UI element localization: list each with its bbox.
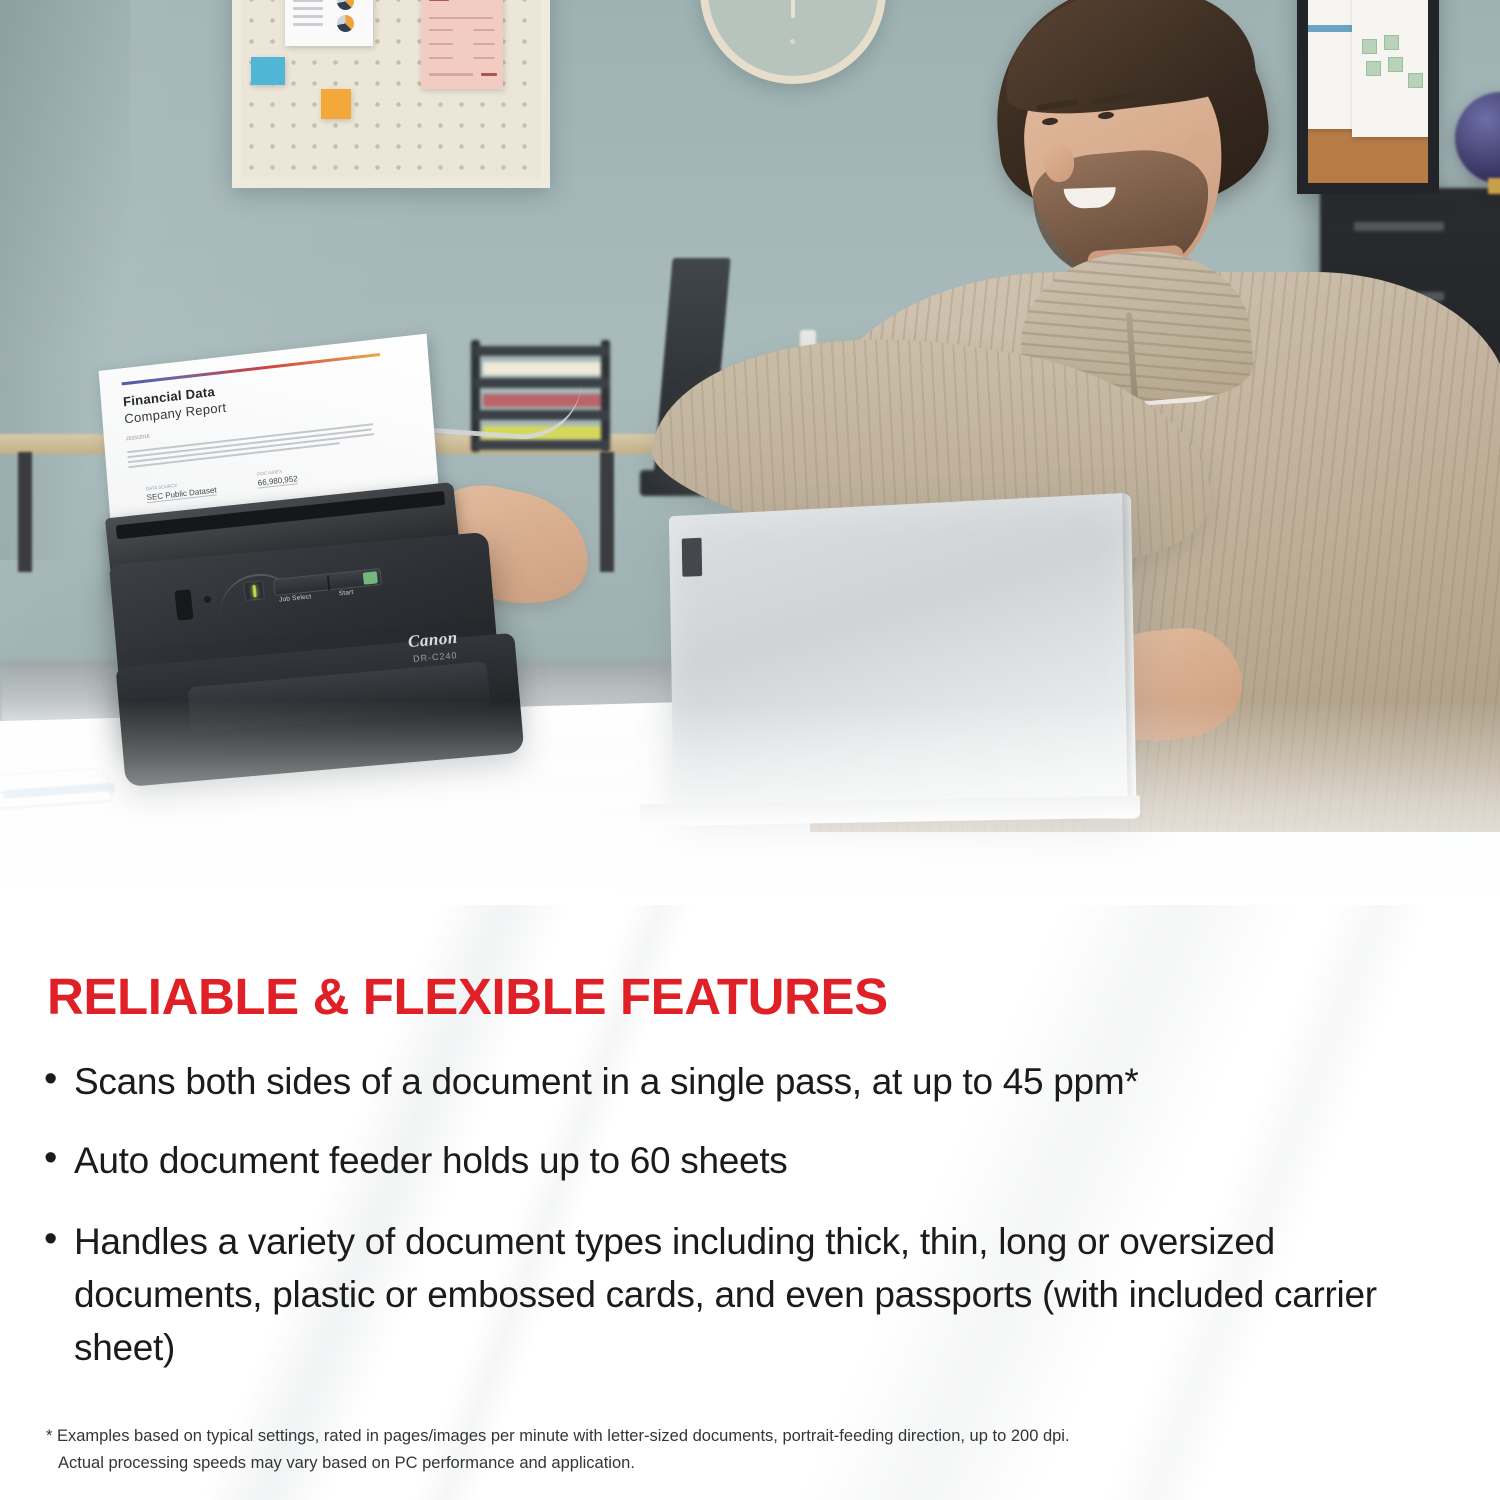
board-document-form: [421, 0, 503, 89]
footnote: * Examples based on typical settings, ra…: [46, 1423, 1446, 1477]
list-item: • Scans both sides of a document in a si…: [44, 1055, 1384, 1108]
feature-text: Auto document feeder holds up to 60 shee…: [74, 1134, 788, 1187]
features-section: RELIABLE & FLEXIBLE FEATURES • Scans bot…: [0, 905, 1500, 1500]
bullet-marker: •: [44, 1055, 74, 1103]
power-led-icon: [243, 580, 265, 601]
document-date: 2015/2016: [126, 434, 150, 443]
board-document-chart: [285, 0, 373, 46]
feature-list: • Scans both sides of a document in a si…: [44, 1055, 1384, 1400]
hero-photo: Financial Data Company Report 2015/2016 …: [0, 0, 1500, 935]
sticky-note: [321, 89, 351, 119]
document-field-value-2: 66,980,952: [257, 474, 298, 489]
sticky-note: [251, 57, 285, 85]
canon-scanner: Financial Data Company Report 2015/2016 …: [108, 352, 578, 812]
bullet-marker: •: [44, 1134, 74, 1182]
scanner-side-slot: [174, 589, 193, 621]
paper-stack: [0, 768, 115, 816]
feature-text: Scans both sides of a document in a sing…: [74, 1055, 1138, 1108]
laptop-lid: [669, 493, 1137, 819]
page-root: Financial Data Company Report 2015/2016 …: [0, 0, 1500, 1500]
laptop-hinge: [682, 538, 702, 577]
bulletin-board: [232, 0, 550, 188]
document-paragraph: [127, 423, 375, 471]
list-item: • Auto document feeder holds up to 60 sh…: [44, 1134, 1384, 1187]
bullet-marker: •: [44, 1215, 74, 1263]
list-item: • Handles a variety of document types in…: [44, 1215, 1384, 1374]
start-button-label[interactable]: Start: [338, 589, 353, 598]
footnote-line-2: Actual processing speeds may vary based …: [46, 1450, 1446, 1477]
section-headline: RELIABLE & FLEXIBLE FEATURES: [47, 967, 888, 1026]
footnote-line-1: * Examples based on typical settings, ra…: [46, 1423, 1446, 1450]
document-color-stripe: [122, 353, 381, 385]
feature-text: Handles a variety of document types incl…: [74, 1215, 1384, 1374]
